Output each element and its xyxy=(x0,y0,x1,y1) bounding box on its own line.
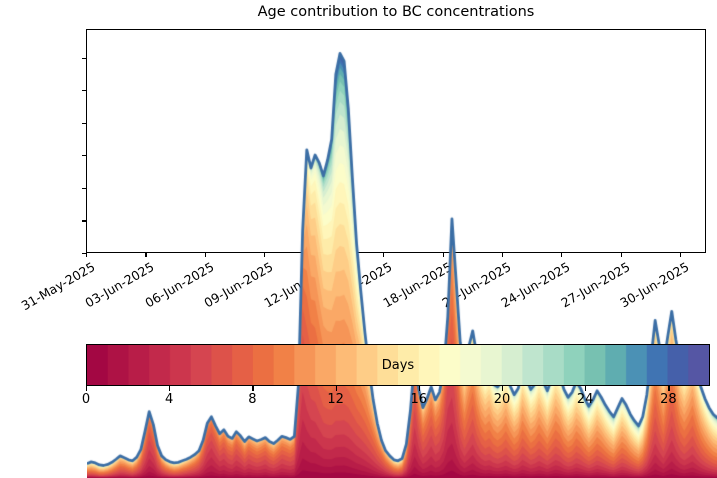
colorbar-tick-label: 4 xyxy=(149,392,189,407)
colorbar-tick-mark xyxy=(336,386,337,391)
colorbar-tick-mark xyxy=(86,386,87,391)
y-axis-label: BC concentration (ng m-3) xyxy=(0,0,22,28)
colorbar: Days xyxy=(86,344,710,386)
colorbar-tick-mark xyxy=(169,386,170,391)
figure-root: Age contribution to BC concentrations BC… xyxy=(0,0,717,425)
colorbar-tick-label: 20 xyxy=(482,392,522,407)
chart-title: Age contribution to BC concentrations xyxy=(86,4,706,20)
colorbar-gradient xyxy=(86,344,710,386)
colorbar-tick-label: 8 xyxy=(232,392,272,407)
colorbar-tick-mark xyxy=(419,386,420,391)
plot-area xyxy=(86,29,706,253)
colorbar-tick-mark xyxy=(252,386,253,391)
colorbar-tick-label: 16 xyxy=(399,392,439,407)
colorbar-tick-mark xyxy=(585,386,586,391)
colorbar-tick-label: 12 xyxy=(316,392,356,407)
colorbar-tick-mark xyxy=(502,386,503,391)
colorbar-tick-mark xyxy=(668,386,669,391)
colorbar-tick-label: 24 xyxy=(565,392,605,407)
colorbar-tick-label: 0 xyxy=(66,392,106,407)
stacked-area-plot xyxy=(87,30,717,478)
colorbar-tick-label: 28 xyxy=(648,392,688,407)
